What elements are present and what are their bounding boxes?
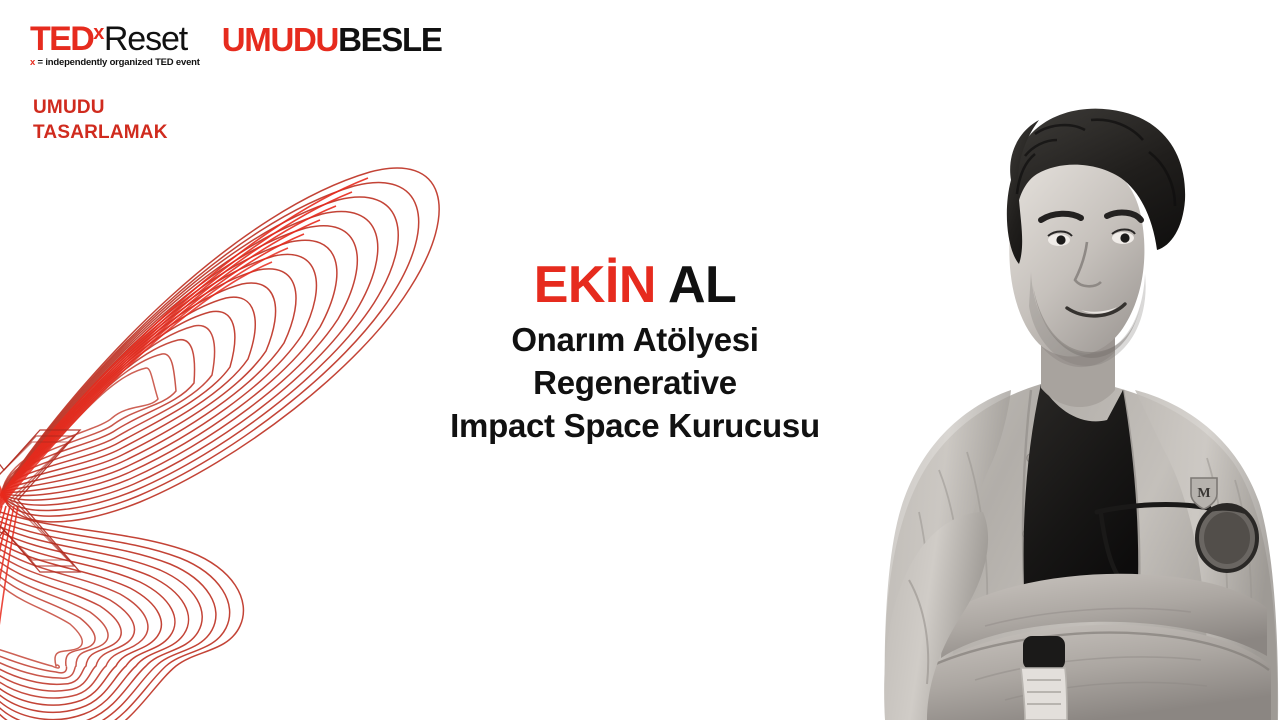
speaker-info-block: EKİN AL Onarım Atölyesi Regenerative Imp… xyxy=(400,258,870,448)
brand-lockup: TEDxReset x = independently organized TE… xyxy=(30,22,442,68)
upper-wing-contours xyxy=(2,168,439,522)
portrait-overshirt xyxy=(885,384,1279,720)
speaker-title-line-1: Onarım Atölyesi xyxy=(400,319,870,362)
theme-slogan-line-1: UMUDU xyxy=(33,95,168,120)
lower-wing-spine xyxy=(0,504,18,720)
theme-slogan-line-2: TASARLAMAK xyxy=(33,120,168,145)
speaker-portrait: M xyxy=(835,60,1280,720)
tedx-superscript-x: x xyxy=(93,22,104,44)
reset-text: Reset xyxy=(104,20,187,58)
sunglasses-icon xyxy=(1097,505,1257,580)
tedx-wordmark: TEDxReset xyxy=(30,22,200,56)
shirt-badge-icon: M xyxy=(1191,478,1217,509)
tagline-text: = independently organized TED event xyxy=(38,57,200,68)
besle-text: BESLE xyxy=(338,21,442,58)
portrait-neck xyxy=(1041,322,1115,407)
theme-slogan: UMUDU TASARLAMAK xyxy=(33,95,168,145)
speaker-title-line-3: Impact Space Kurucusu xyxy=(400,405,870,448)
speaker-last-name: AL xyxy=(668,256,736,314)
ted-text: TED xyxy=(30,20,93,58)
upper-wing-spine xyxy=(0,178,368,510)
tagline-x: x xyxy=(30,57,35,68)
portrait-tshirt xyxy=(1024,384,1139,608)
speaker-first-name: EKİN xyxy=(534,256,656,314)
tedx-tagline: x = independently organized TED event xyxy=(30,58,200,68)
speaker-name: EKİN AL xyxy=(400,258,870,313)
portrait-arms xyxy=(884,512,1271,720)
pivot-bundle xyxy=(0,382,8,504)
tedx-reset-logo: TEDxReset x = independently organized TE… xyxy=(30,22,200,68)
lower-wing-contours xyxy=(0,512,243,720)
speaker-title-line-2: Regenerative xyxy=(400,362,870,405)
speaker-title: Onarım Atölyesi Regenerative Impact Spac… xyxy=(400,319,870,448)
wristwatch-icon xyxy=(1021,636,1067,720)
tedx-speaker-title-card: TEDxReset x = independently organized TE… xyxy=(0,0,1280,720)
umudubesle-wordmark: UMUDUBESLE xyxy=(222,23,442,56)
umudu-text: UMUDU xyxy=(222,21,338,58)
portrait-head xyxy=(1007,109,1185,366)
svg-text:M: M xyxy=(1197,486,1210,501)
x-mark xyxy=(0,430,80,572)
